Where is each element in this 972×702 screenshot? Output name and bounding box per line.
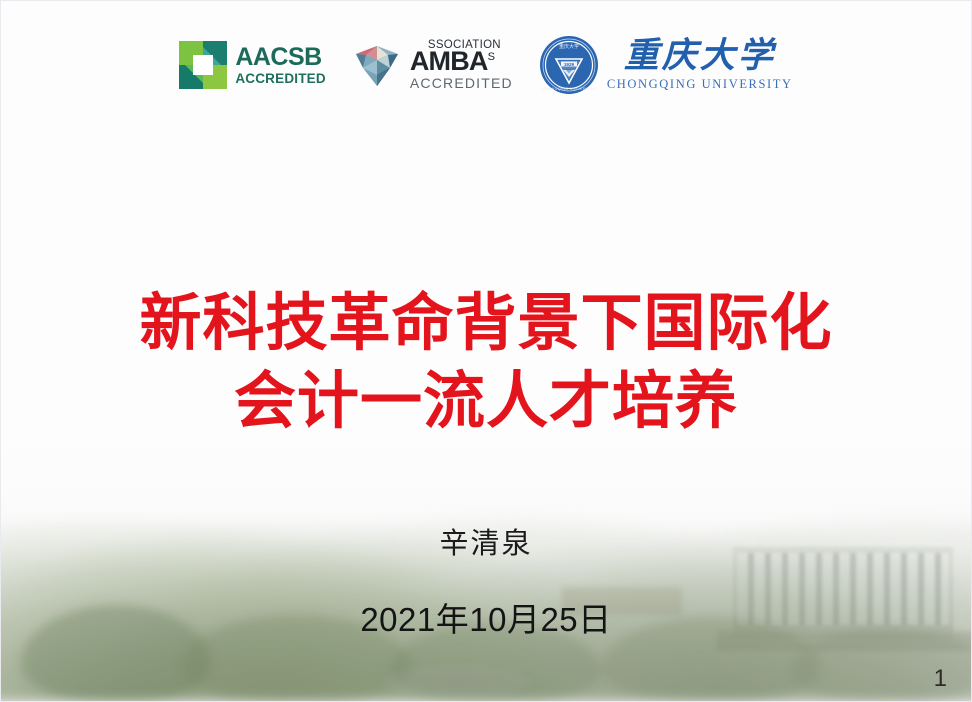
aacsb-subtitle: ACCREDITED [235, 72, 326, 86]
aacsb-wordmark: AACSB ACCREDITED [235, 45, 326, 86]
chongqing-university-name-cn: 重庆大学 [624, 38, 776, 73]
chongqing-university-seal-icon: 1929 重庆大学 CHONGQING UNIVERSITY [539, 35, 599, 95]
accreditation-logo-row: AACSB ACCREDITED SS [1, 35, 971, 95]
chongqing-university-name-en: CHONGQING UNIVERSITY [607, 77, 793, 92]
page-number: 1 [934, 665, 947, 693]
chongqing-university-logo: 1929 重庆大学 CHONGQING UNIVERSITY 重庆大学 CHON… [539, 35, 793, 95]
aacsb-name: AACSB [235, 45, 326, 70]
presentation-title-slide: AACSB ACCREDITED SS [0, 0, 972, 702]
aacsb-pinwheel-icon [179, 41, 227, 89]
svg-text:1929: 1929 [564, 62, 575, 67]
amba-wordmark: SSOCIATION AMBAS ACCREDITED [410, 40, 513, 91]
amba-name: AMBAS [410, 48, 513, 75]
slide-title: 新科技革命背景下国际化 会计一流人才培养 [1, 285, 971, 441]
amba-logo: SSOCIATION AMBAS ACCREDITED [352, 40, 513, 91]
amba-diamond-icon [352, 42, 402, 88]
amba-subtitle: ACCREDITED [410, 76, 513, 90]
aacsb-logo: AACSB ACCREDITED [179, 41, 326, 89]
svg-text:重庆大学: 重庆大学 [559, 43, 579, 50]
title-line-2: 会计一流人才培养 [1, 363, 971, 441]
photo-plaza [382, 665, 532, 699]
amba-superscript: S [488, 51, 495, 63]
svg-text:CHONGQING UNIVERSITY: CHONGQING UNIVERSITY [542, 87, 595, 91]
presenter-name: 辛清泉 [1, 520, 971, 562]
presentation-date: 2021年10月25日 [1, 593, 971, 641]
title-line-1: 新科技革命背景下国际化 [1, 285, 971, 363]
chongqing-university-wordmark: 重庆大学 CHONGQING UNIVERSITY [607, 38, 793, 92]
amba-name-text: AMBA [410, 46, 488, 76]
